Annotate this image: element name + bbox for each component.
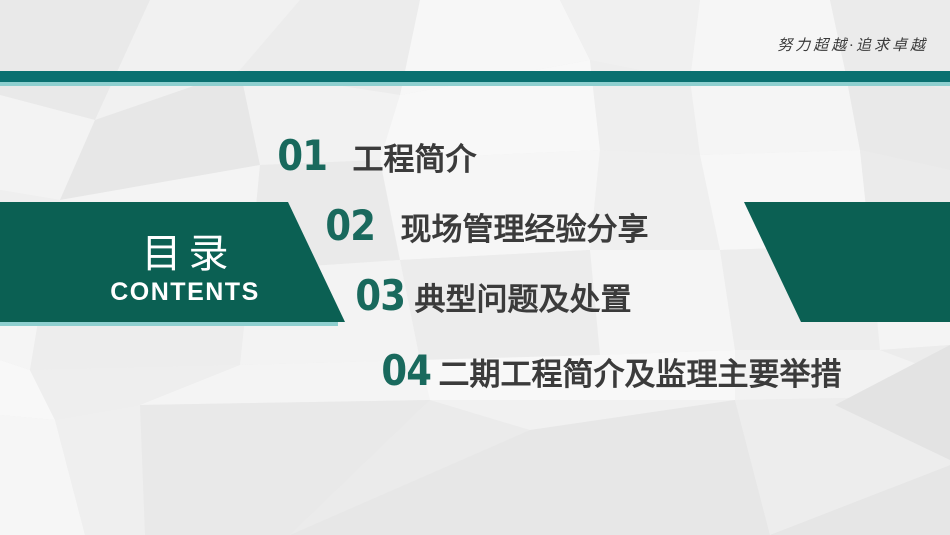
agenda-item-01[interactable]: 01 工程简介 — [274, 135, 476, 177]
header-slogan: 努力超越·追求卓越 — [777, 34, 928, 55]
agenda-item-04[interactable]: 04 二期工程简介及监理主要举措 — [378, 350, 841, 392]
agenda-item-02[interactable]: 02 现场管理经验分享 — [322, 205, 648, 247]
contents-title-en: CONTENTS — [95, 277, 275, 307]
agenda-label-04: 二期工程简介及监理主要举措 — [438, 358, 841, 392]
agenda-number-03: 03 — [355, 275, 405, 317]
agenda-number-02: 02 — [325, 205, 375, 247]
contents-heading: 目录 CONTENTS — [95, 232, 275, 307]
top-divider-bar — [0, 71, 950, 82]
agenda-label-03: 典型问题及处置 — [414, 283, 631, 317]
agenda-label-02: 现场管理经验分享 — [400, 213, 648, 247]
agenda-number-01: 01 — [277, 135, 327, 177]
top-divider-accent — [0, 82, 950, 86]
agenda-label-01: 工程简介 — [352, 143, 476, 177]
presentation-slide: 努力超越·追求卓越 目录 CONTENTS 01 工程简介 02 现场管理经验分… — [0, 0, 950, 535]
contents-title-cn: 目录 — [95, 232, 275, 276]
agenda-number-04: 04 — [381, 350, 431, 392]
agenda-item-03[interactable]: 03 典型问题及处置 — [352, 275, 631, 317]
